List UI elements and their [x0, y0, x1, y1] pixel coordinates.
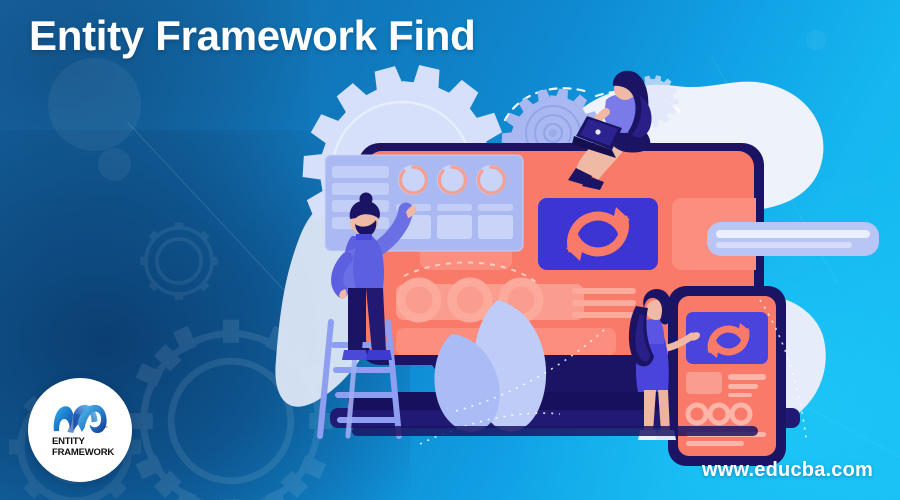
- entity-framework-logo-badge: ™ ENTITY FRAMEWORK: [28, 378, 132, 482]
- monitor-sync-panel: [538, 198, 658, 270]
- monitor-text-lines: [572, 288, 636, 318]
- mobile-phone-mockup: [668, 286, 786, 466]
- footer-website-url: www.educba.com: [702, 459, 873, 482]
- logo-wordmark-line1: ENTITY: [52, 437, 108, 448]
- svg-text:™: ™: [103, 425, 107, 430]
- monitor-base-shadow: [352, 426, 758, 436]
- page-title: Entity Framework Find: [29, 12, 475, 60]
- dotnet-swoosh-n-logo-icon: ™: [51, 402, 109, 436]
- logo-wordmark-line2: FRAMEWORK: [52, 448, 108, 459]
- panel-progress-rings: [398, 165, 506, 195]
- logo-wordmark: ENTITY FRAMEWORK: [52, 437, 108, 458]
- illustration-team-dashboard: [0, 0, 900, 500]
- educba-banner: Entity Framework Find: [0, 0, 900, 500]
- floating-info-bar: [707, 222, 879, 256]
